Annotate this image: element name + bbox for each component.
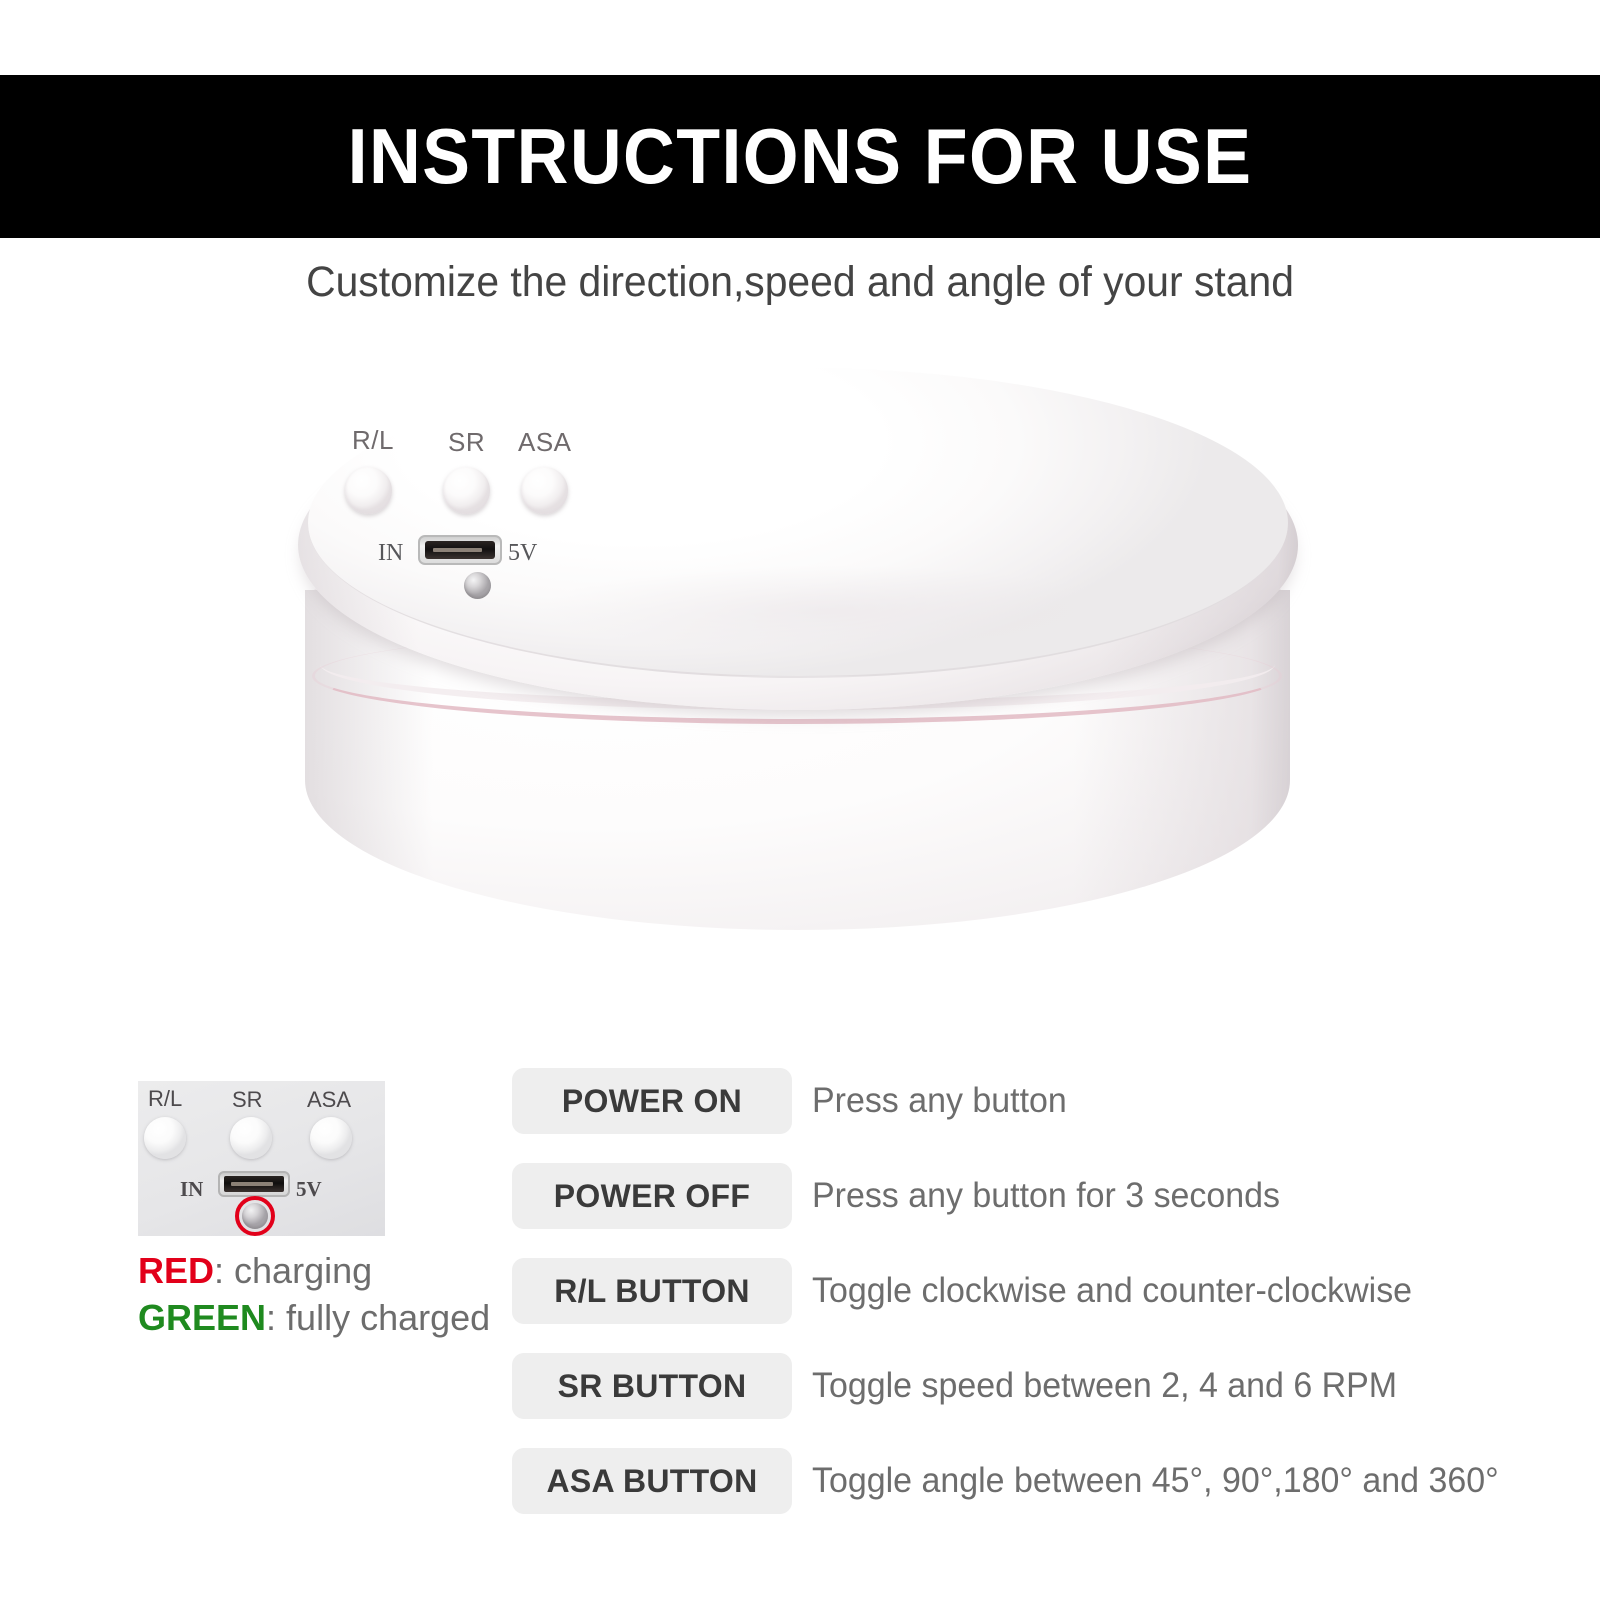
instruction-description-sr-button: Toggle speed between 2, 4 and 6 RPM	[812, 1366, 1397, 1406]
inset-label-sr: SR	[232, 1087, 263, 1113]
product-label-rl: R/L	[352, 425, 394, 456]
inset-port-voltage-label: 5V	[296, 1177, 322, 1202]
instruction-row: POWER OFF Press any button for 3 seconds	[512, 1163, 1542, 1229]
instruction-row: SR BUTTON Toggle speed between 2, 4 and …	[512, 1353, 1542, 1419]
instruction-label-power-on: POWER ON	[512, 1068, 792, 1134]
legend-keyword-red: RED	[138, 1250, 214, 1291]
page-title: INSTRUCTIONS FOR USE	[64, 75, 1536, 238]
micro-usb-port-icon	[418, 535, 502, 565]
inset-label-asa: ASA	[307, 1087, 351, 1113]
product-control-panel: R/L SR ASA IN 5V	[340, 425, 640, 600]
subtitle: Customize the direction,speed and angle …	[40, 258, 1560, 307]
legend-item-green: GREEN: fully charged	[138, 1294, 558, 1341]
header-banner: INSTRUCTIONS FOR USE	[0, 75, 1600, 238]
instruction-label-rl-button: R/L BUTTON	[512, 1258, 792, 1324]
legend-keyword-green: GREEN	[138, 1297, 266, 1338]
highlight-circle-icon	[235, 1196, 275, 1236]
instruction-row: R/L BUTTON Toggle clockwise and counter-…	[512, 1258, 1542, 1324]
instruction-row: POWER ON Press any button	[512, 1068, 1542, 1134]
instruction-label-power-off: POWER OFF	[512, 1163, 792, 1229]
instruction-description-rl-button: Toggle clockwise and counter-clockwise	[812, 1271, 1412, 1311]
control-panel-closeup-inset: R/L SR ASA IN 5V	[138, 1081, 385, 1236]
product-label-asa: ASA	[518, 427, 572, 458]
instruction-description-asa-button: Toggle angle between 45°, 90°,180° and 3…	[812, 1461, 1499, 1501]
product-button-rl[interactable]	[345, 467, 392, 514]
product-label-sr: SR	[448, 427, 485, 458]
product-port-in-label: IN	[378, 540, 403, 567]
inset-label-rl: R/L	[148, 1086, 182, 1112]
led-color-legend: RED: charging GREEN: fully charged	[138, 1247, 558, 1341]
product-button-sr[interactable]	[443, 467, 490, 514]
legend-item-red: RED: charging	[138, 1247, 558, 1294]
led-indicator-icon	[464, 572, 491, 599]
instruction-description-power-off: Press any button for 3 seconds	[812, 1176, 1280, 1216]
product-button-asa[interactable]	[521, 467, 568, 514]
instruction-row: ASA BUTTON Toggle angle between 45°, 90°…	[512, 1448, 1542, 1514]
legend-separator-red: :	[214, 1250, 234, 1291]
legend-description-green: fully charged	[286, 1297, 490, 1338]
inset-button-asa	[310, 1117, 352, 1159]
inset-button-rl	[144, 1117, 186, 1159]
instruction-list: POWER ON Press any button POWER OFF Pres…	[512, 1068, 1542, 1543]
inset-button-sr	[230, 1117, 272, 1159]
inset-micro-usb-port-icon	[218, 1171, 290, 1197]
product-port-row: IN 5V	[366, 535, 596, 567]
instruction-label-sr-button: SR BUTTON	[512, 1353, 792, 1419]
product-port-voltage-label: 5V	[508, 540, 537, 567]
instructions-page: INSTRUCTIONS FOR USE Customize the direc…	[0, 0, 1600, 1600]
usb-slot	[425, 541, 495, 559]
legend-description-red: charging	[234, 1250, 372, 1291]
instruction-description-power-on: Press any button	[812, 1081, 1067, 1121]
instruction-label-asa-button: ASA BUTTON	[512, 1448, 792, 1514]
inset-port-in-label: IN	[180, 1177, 203, 1202]
inset-usb-slot	[224, 1176, 284, 1192]
legend-separator-green: :	[266, 1297, 286, 1338]
